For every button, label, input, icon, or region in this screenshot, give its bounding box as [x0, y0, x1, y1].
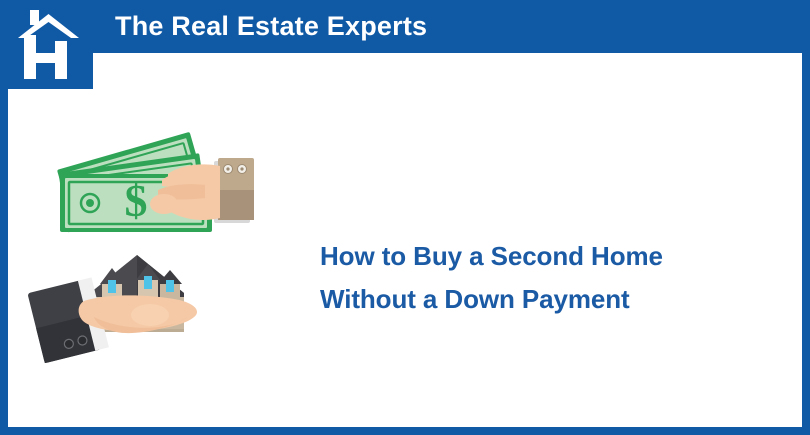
cash-in-hand-icon: $ — [50, 128, 265, 240]
header-title: The Real Estate Experts — [115, 11, 427, 42]
svg-text:$: $ — [125, 175, 148, 226]
house-h-logo-icon — [17, 8, 80, 81]
page-title-line-1: How to Buy a Second Home — [320, 235, 740, 278]
frame-border-bottom — [0, 427, 810, 435]
frame-border-left — [0, 0, 8, 435]
frame-border-right — [802, 0, 810, 435]
banner-canvas: The Real Estate Experts $ — [0, 0, 810, 435]
page-title-line-2: Without a Down Payment — [320, 278, 740, 321]
house-in-hand-icon — [28, 243, 243, 363]
page-title: How to Buy a Second Home Without a Down … — [320, 235, 740, 321]
